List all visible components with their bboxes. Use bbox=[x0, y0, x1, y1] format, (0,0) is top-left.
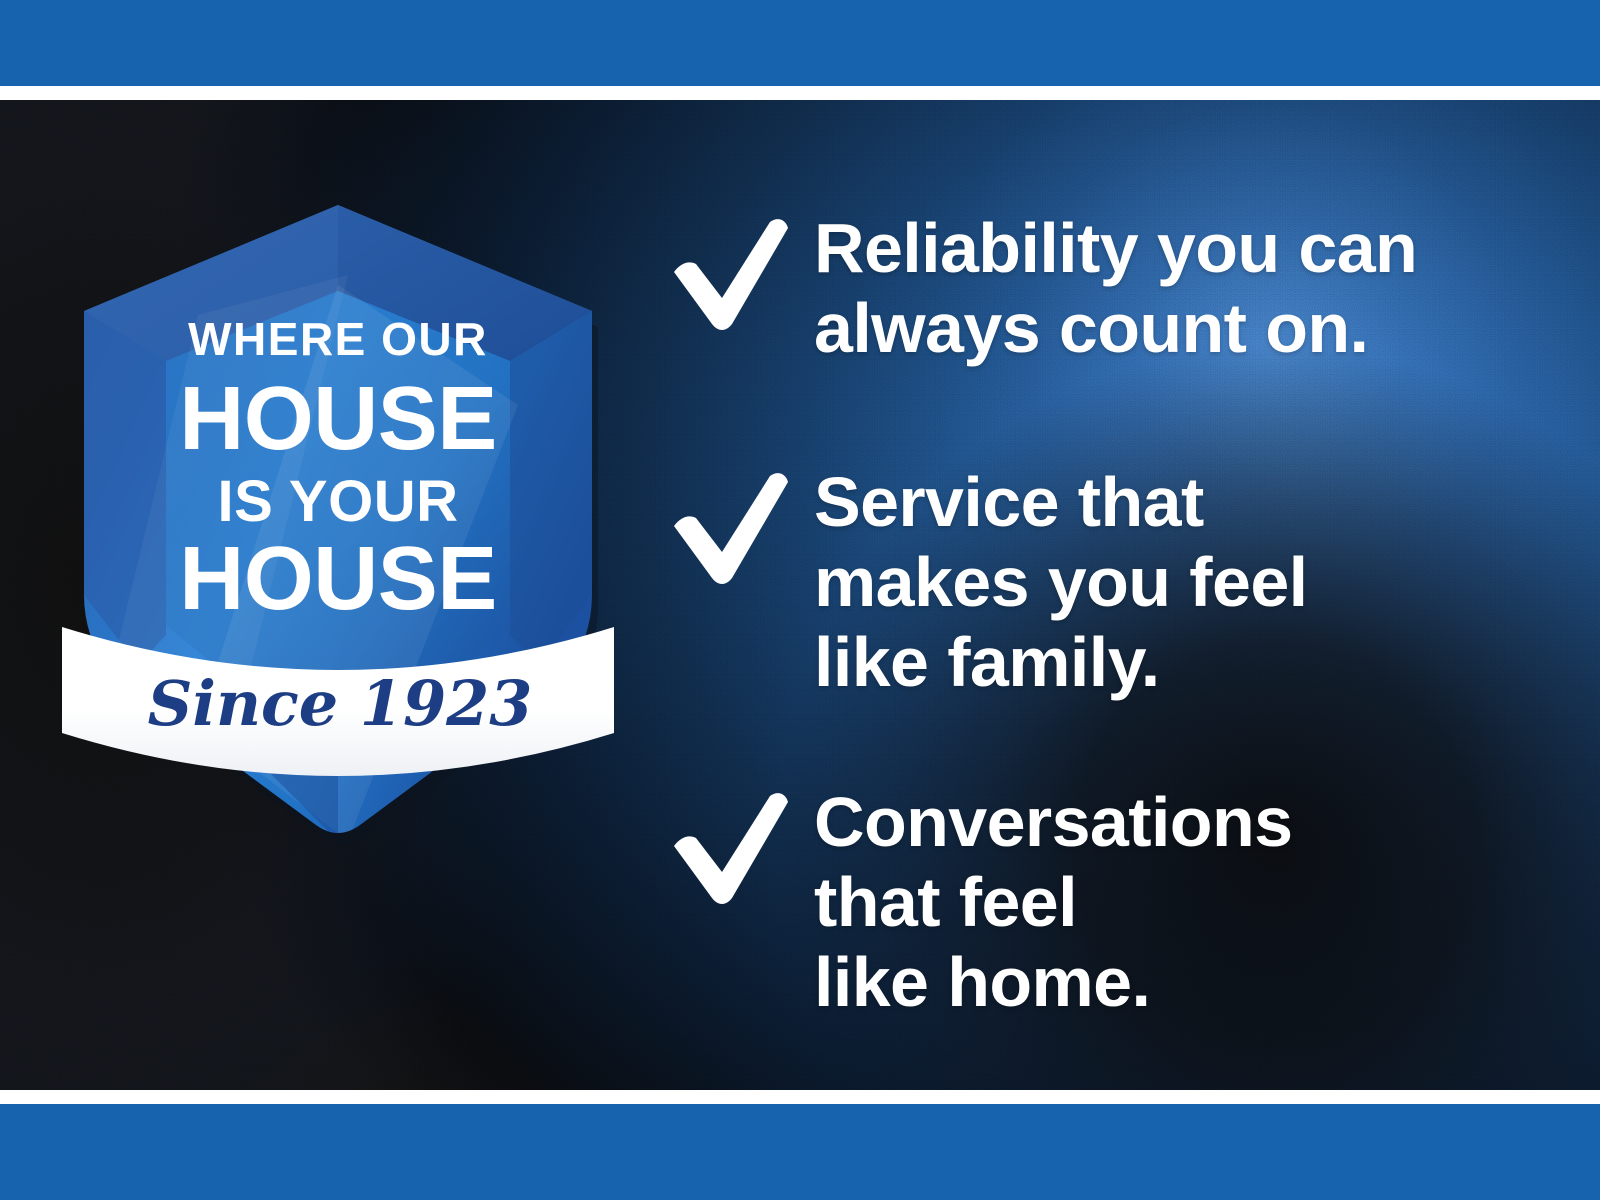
top-white-rule bbox=[0, 86, 1600, 100]
list-item-text: Service that makes you feel like family. bbox=[814, 462, 1308, 702]
promo-graphic: WHERE OUR HOUSE IS YOUR HOUSE Since 1923… bbox=[0, 0, 1600, 1200]
check-icon bbox=[660, 214, 792, 332]
list-item-text: Reliability you can always count on. bbox=[814, 208, 1417, 368]
check-icon bbox=[660, 788, 792, 906]
check-icon bbox=[660, 468, 792, 586]
list-item: Service that makes you feel like family. bbox=[660, 462, 1308, 702]
badge-line-1: HOUSE bbox=[179, 369, 497, 469]
bottom-white-rule bbox=[0, 1090, 1600, 1104]
badge-line-0: WHERE OUR bbox=[188, 313, 488, 365]
bottom-brand-bar bbox=[0, 1104, 1600, 1200]
badge-line-3: HOUSE bbox=[179, 529, 497, 629]
shield-badge-logo: WHERE OUR HOUSE IS YOUR HOUSE Since 1923 bbox=[48, 165, 628, 845]
list-item: Reliability you can always count on. bbox=[660, 208, 1417, 368]
list-item: Conversations that feel like home. bbox=[660, 782, 1292, 1022]
ribbon-since-text: Since 1923 bbox=[148, 667, 533, 740]
top-brand-bar bbox=[0, 0, 1600, 86]
badge-line-2: IS YOUR bbox=[218, 469, 459, 534]
benefits-list: Reliability you can always count on. Ser… bbox=[660, 100, 1540, 1090]
list-item-text: Conversations that feel like home. bbox=[814, 782, 1292, 1022]
